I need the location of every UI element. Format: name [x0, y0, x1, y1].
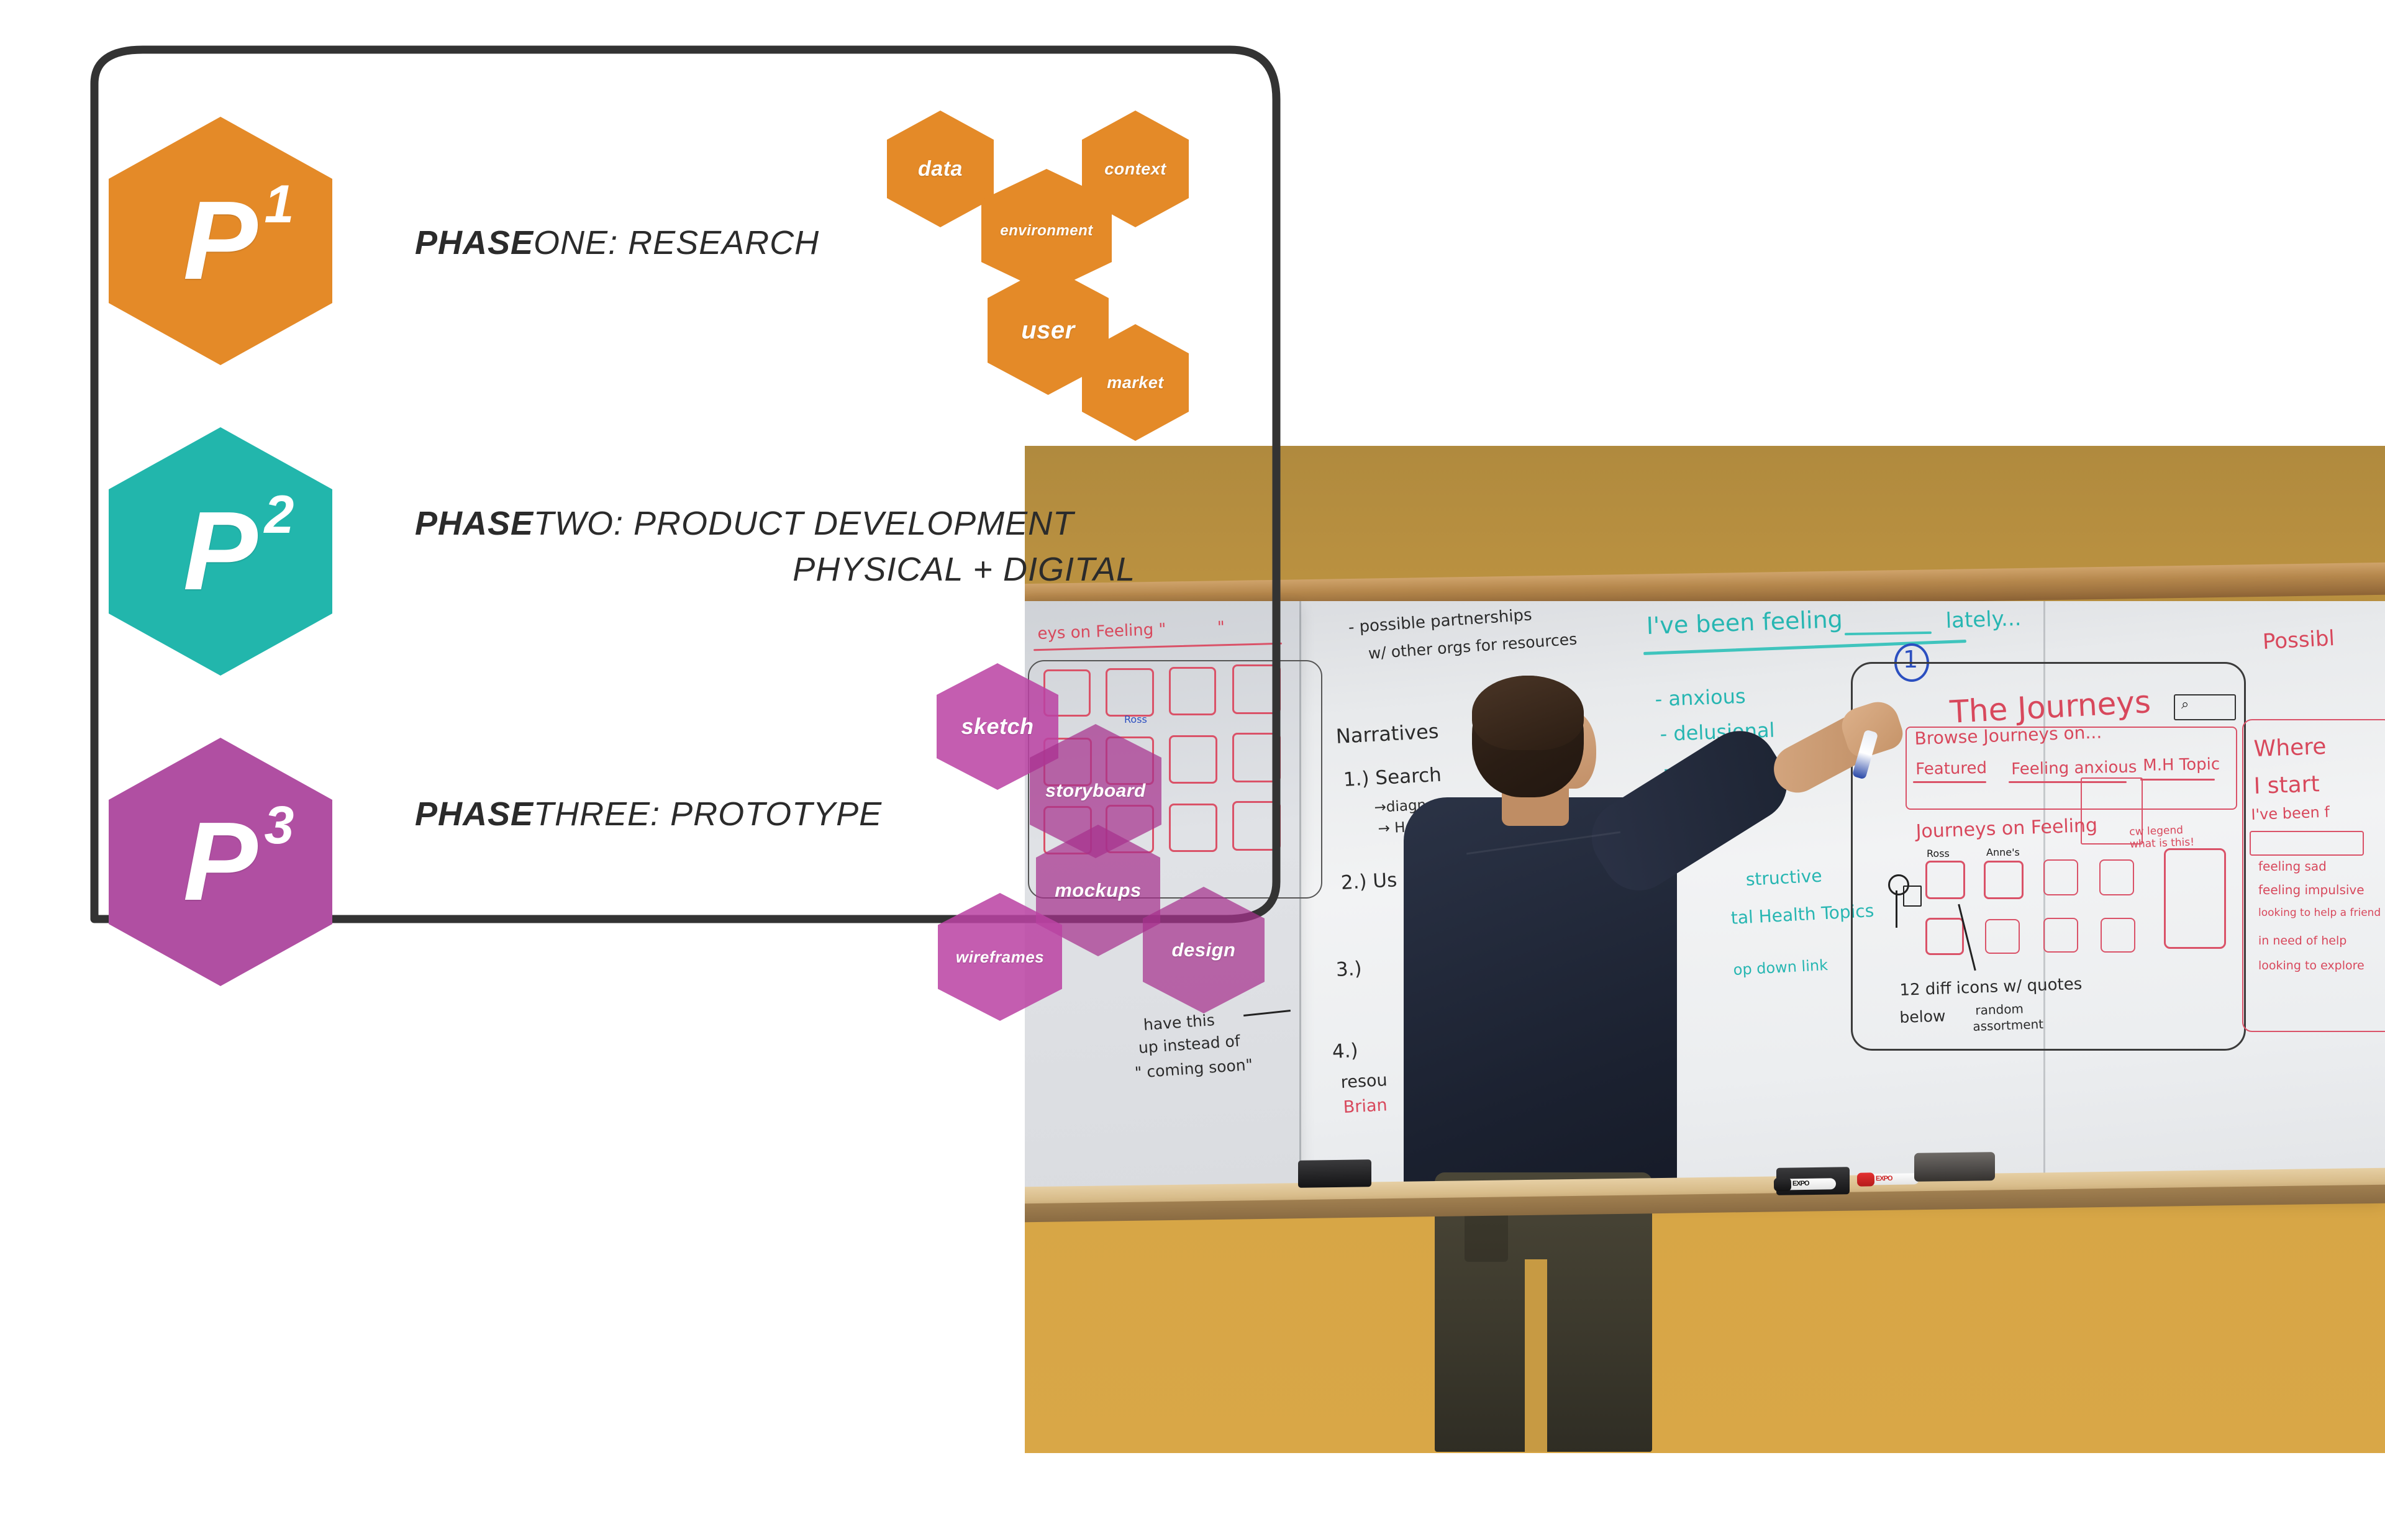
- journey-card: [2043, 918, 2078, 953]
- keyword-hex-design-label: design: [1172, 939, 1236, 961]
- marker-cap-black: [1774, 1177, 1791, 1191]
- phase-badge-2-letter: P2: [183, 496, 258, 607]
- keyword-hex-sketch-label: sketch: [961, 713, 1033, 740]
- phase-3-label: PHASETHREE: PROTOTYPE: [415, 795, 882, 833]
- footnote-line-4: assortment: [1973, 1017, 2043, 1035]
- phase-2-label-line2: PHYSICAL + DIGITAL: [415, 550, 1135, 589]
- dropdown-option-4[interactable]: in need of help: [2258, 934, 2346, 948]
- narr-resources: resou: [1340, 1071, 1388, 1093]
- phase-badge-letter: P: [183, 489, 258, 614]
- keyword-hex-wireframes-label: wireframes: [956, 948, 1044, 967]
- feeling-more-1: structive: [1745, 866, 1822, 890]
- phase-3-label-bold: PHASE: [415, 795, 534, 833]
- right-panel-line-1: Where: [2253, 734, 2327, 763]
- journeys-legend-note: cw legend what is this!: [2129, 823, 2194, 851]
- phase-badge-letter: P: [183, 799, 258, 924]
- footnote-line-2: below: [1899, 1007, 1946, 1026]
- journeys-tab-featured-underline: [1913, 781, 1986, 783]
- phase-badge-3-letter: P3: [183, 806, 258, 918]
- phase-1-label-rest: ONE: RESEARCH: [534, 224, 819, 261]
- person-hair: [1472, 676, 1584, 750]
- journeys-card-label-annes: Anne's: [1986, 847, 2020, 859]
- journey-card: [1925, 918, 1964, 955]
- phase-1-label: PHASEONE: RESEARCH: [415, 224, 819, 262]
- person-at-whiteboard: [1397, 676, 1689, 1452]
- right-panel-frame: [2242, 719, 2385, 1032]
- phase-2-label-bold: PHASE: [415, 505, 534, 542]
- right-panel-select[interactable]: [2250, 831, 2364, 856]
- journey-card: [1925, 861, 1965, 899]
- dropdown-option-2[interactable]: feeling impulsive: [2258, 883, 2365, 898]
- dropdown-option-3[interactable]: looking to help a friend: [2258, 907, 2381, 919]
- eraser-left: [1298, 1159, 1371, 1188]
- phase-badge-exponent: 1: [264, 178, 294, 231]
- keyword-hex-storyboard-label: storyboard: [1045, 781, 1146, 802]
- journey-card: [1984, 861, 2024, 899]
- phase-2-label-rest: TWO: PRODUCT DEVELOPMENT: [534, 505, 1074, 542]
- phase-badge-letter: P: [183, 178, 258, 303]
- right-panel-heading: Possibl: [2262, 626, 2335, 654]
- journey-card: [2043, 859, 2078, 895]
- marker-red: EXPO: [1857, 1173, 1919, 1185]
- journeys-card-label-ross: Ross: [1927, 848, 1950, 860]
- search-icon: ⌕: [2181, 697, 2189, 713]
- narr-item-4: 4.): [1332, 1039, 1359, 1064]
- journey-card: [2101, 918, 2135, 953]
- keyword-hex-market-label: market: [1107, 373, 1164, 392]
- stick-figure-phone: [1903, 885, 1922, 907]
- dropdown-option-5[interactable]: looking to explore: [2258, 959, 2365, 972]
- keyword-hex-data-label: data: [918, 157, 963, 181]
- journey-card: [1985, 919, 2020, 954]
- marker-brand-label: EXPO: [1792, 1180, 1809, 1187]
- keyword-hex-user-label: user: [1021, 317, 1075, 345]
- keyword-hex-mockups-label: mockups: [1055, 879, 1142, 902]
- phase-badge-exponent: 2: [264, 488, 294, 541]
- footnote-line-3: random: [1975, 1002, 2024, 1018]
- marker-cap-red: [1857, 1172, 1874, 1186]
- phase-badge-exponent: 3: [264, 799, 294, 852]
- journey-card: [2099, 859, 2134, 895]
- dropdown-option-1[interactable]: feeling sad: [2258, 859, 2327, 874]
- journeys-tab-topic[interactable]: M.H Topic: [2143, 755, 2220, 776]
- keyword-hex-environment-label: environment: [1000, 222, 1093, 240]
- journeys-tab-feeling[interactable]: Feeling anxious: [2011, 758, 2137, 779]
- phase-2-label: PHASETWO: PRODUCT DEVELOPMENT PHYSICAL +…: [415, 504, 1135, 589]
- pants-pocket: [1465, 1210, 1508, 1262]
- right-panel-line-2: I start: [2253, 771, 2320, 800]
- phase-3-label-rest: THREE: PROTOTYPE: [534, 795, 882, 833]
- marker-brand-label: EXPO: [1876, 1175, 1892, 1182]
- journey-feature-card: [2164, 848, 2226, 949]
- right-panel-line-3: I've been f: [2251, 804, 2330, 824]
- journeys-tab-featured[interactable]: Featured: [1915, 759, 1987, 779]
- stick-figure-body: [1896, 890, 1897, 928]
- journeys-tab-topic-underline: [2140, 779, 2215, 781]
- leg-gap: [1525, 1259, 1547, 1452]
- eraser-sponge: [1914, 1152, 1995, 1182]
- keyword-hex-context-label: context: [1104, 160, 1166, 179]
- marker-black: EXPO: [1774, 1178, 1836, 1190]
- poster-canvas: eys on Feeling " " Ross have this up ins…: [0, 0, 2385, 1540]
- narr-brian: Brian: [1343, 1095, 1388, 1118]
- phase-badge-1-letter: P1: [183, 185, 258, 297]
- prompt-tail: lately...: [1945, 606, 2022, 633]
- phase-1-label-bold: PHASE: [415, 224, 534, 261]
